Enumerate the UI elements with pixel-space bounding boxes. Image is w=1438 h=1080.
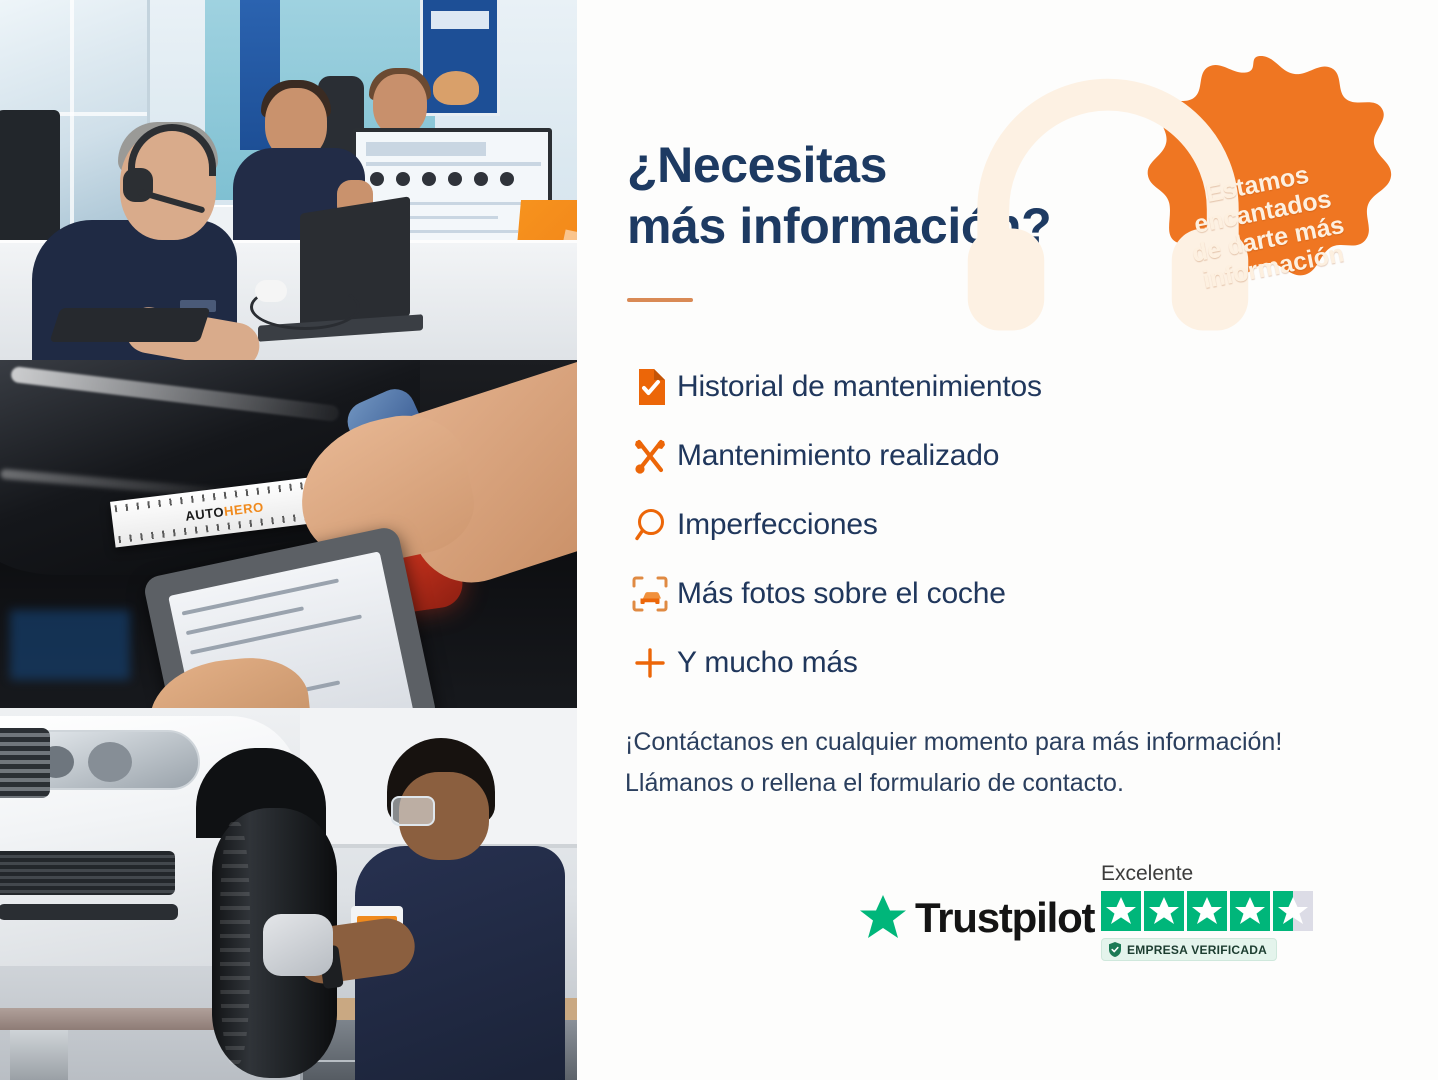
star-filled: [1144, 891, 1184, 931]
call-center-agents-photo: [0, 0, 577, 360]
verified-company-badge: EMPRESA VERIFICADA: [1101, 938, 1277, 961]
trustpilot-logo: Trustpilot: [859, 894, 1094, 942]
info-panel: ¿Necesitas más información? Estamos enca…: [577, 0, 1438, 1080]
ruler-logo-hero: HERO: [223, 499, 264, 519]
plus-icon: [623, 647, 677, 679]
feature-item-imperfections: Imperfecciones: [623, 490, 1343, 559]
technician: [355, 738, 565, 1080]
rating-stars: [1101, 891, 1351, 931]
support-badge: Estamos encantados de darte más informac…: [1108, 53, 1414, 353]
feature-label: Imperfecciones: [677, 508, 878, 542]
title-divider: [627, 298, 693, 302]
photo-column: AUTOHERO: [0, 0, 577, 1080]
bumper-inspection-photo: AUTOHERO: [0, 360, 577, 708]
feature-item-service-history: Historial de mantenimientos: [623, 352, 1343, 421]
feature-item-maintenance: Mantenimiento realizado: [623, 421, 1343, 490]
wheel-inspection-photo: [0, 708, 577, 1080]
feature-item-more: Y mucho más: [623, 628, 1343, 697]
rating-label: Excelente: [1101, 862, 1351, 886]
contact-text: ¡Contáctanos en cualquier momento para m…: [625, 722, 1385, 805]
ruler-logo-auto: AUTO: [184, 504, 225, 524]
feature-label: Historial de mantenimientos: [677, 370, 1042, 404]
trustpilot-wordmark: Trustpilot: [915, 894, 1094, 942]
feature-label: Y mucho más: [677, 646, 858, 680]
headset-icon: [955, 53, 1261, 353]
star-filled: [1101, 891, 1141, 931]
feature-list: Historial de mantenimientos Mantenimient…: [623, 352, 1343, 697]
star-half: [1273, 891, 1313, 931]
verified-label: EMPRESA VERIFICADA: [1127, 943, 1267, 957]
car-scan-icon: [623, 576, 677, 612]
trustpilot-star-icon: [859, 895, 907, 941]
star-filled: [1230, 891, 1270, 931]
tools-icon: [623, 438, 677, 474]
feature-label: Más fotos sobre el coche: [677, 577, 1006, 611]
trustpilot-widget: Trustpilot Excelente EMPRESA VERIFICADA: [859, 862, 1419, 997]
feature-label: Mantenimiento realizado: [677, 439, 999, 473]
shield-check-icon: [1108, 942, 1122, 957]
star-filled: [1187, 891, 1227, 931]
magnifier-icon: [623, 508, 677, 542]
feature-item-more-photos: Más fotos sobre el coche: [623, 559, 1343, 628]
service-history-icon: [623, 369, 677, 405]
